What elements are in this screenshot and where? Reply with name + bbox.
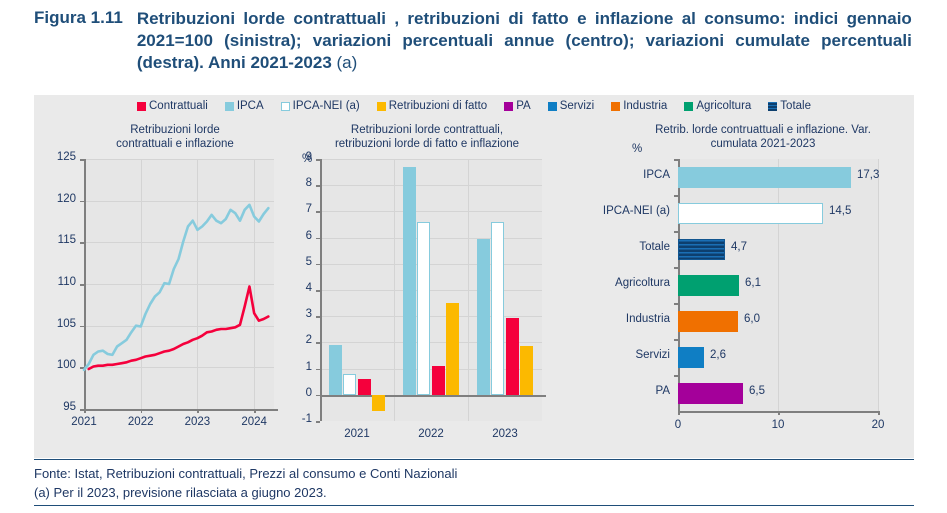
chart-right-title-line2: cumulata 2021-2023 xyxy=(612,137,914,151)
gridline-h xyxy=(320,290,542,291)
bar-2021-retribuzioni-di-fatto xyxy=(372,395,385,411)
legend-label: Contrattuali xyxy=(149,100,208,112)
gridline-v xyxy=(878,159,879,411)
bar-2022-ipca-nei-a- xyxy=(417,222,430,395)
figure-title-note: (a) xyxy=(337,53,358,72)
chart-right-unit: % xyxy=(632,143,642,155)
y-tick xyxy=(316,185,320,187)
gridline-v xyxy=(778,159,779,411)
bar-2021-ipca-nei-a- xyxy=(343,374,356,395)
y-tick-label: -1 xyxy=(280,413,312,425)
figure-label: Figura 1.11 xyxy=(34,8,137,28)
footer-note: (a) Per il 2023, previsione rilasciata a… xyxy=(34,484,457,503)
legend-label: IPCA xyxy=(237,100,264,112)
x-tick xyxy=(678,411,680,415)
gridline-h xyxy=(320,185,542,186)
legend-swatch-icon xyxy=(684,102,693,111)
y-tick-label: 4 xyxy=(280,282,312,294)
bar-2021-ipca xyxy=(329,345,342,395)
chart-panel: ContrattualiIPCAIPCA-NEI (a)Retribuzioni… xyxy=(34,95,914,458)
y-tick-label: 6 xyxy=(280,230,312,242)
divider-top xyxy=(34,459,914,460)
hbar-value-label: 6,5 xyxy=(749,385,765,397)
hbar-agricoltura xyxy=(678,275,739,296)
x-tick-label: 20 xyxy=(856,419,900,431)
figure-page: Figura 1.11 Retribuzioni lorde contrattu… xyxy=(0,0,947,513)
legend-item-retribuzioni-di-fatto: Retribuzioni di fatto xyxy=(377,100,487,112)
y-tick xyxy=(316,316,320,318)
legend-swatch-icon xyxy=(548,102,557,111)
line-series-ipca xyxy=(84,205,268,370)
legend-item-servizi: Servizi xyxy=(548,100,595,112)
y-tick xyxy=(316,421,320,423)
gridline-h xyxy=(320,264,542,265)
figure-footer: Fonte: Istat, Retribuzioni contrattuali,… xyxy=(34,465,457,503)
y-tick xyxy=(316,159,320,161)
gridline-h xyxy=(320,211,542,212)
gridline-h xyxy=(320,159,542,160)
y-tick xyxy=(316,290,320,292)
y-tick xyxy=(674,159,678,161)
hbar-value-label: 2,6 xyxy=(710,349,726,361)
chart-right-title-line1: Retrib. lorde contruattuali e inflazione… xyxy=(612,123,914,137)
legend-swatch-icon xyxy=(377,102,386,111)
legend-swatch-icon xyxy=(137,102,146,111)
y-tick xyxy=(674,339,678,341)
gridline-v xyxy=(394,159,395,421)
hbar-value-label: 6,0 xyxy=(744,313,760,325)
x-tick xyxy=(878,411,880,415)
chart-center-title: Retribuzioni lorde contrattuali, retribu… xyxy=(284,123,570,152)
legend-label: Retribuzioni di fatto xyxy=(389,100,487,112)
hbar-pa xyxy=(678,383,743,404)
y-tick-label: 3 xyxy=(280,308,312,320)
y-tick xyxy=(674,303,678,305)
legend-swatch-icon xyxy=(504,102,513,111)
legend-item-ipca-nei-a: IPCA-NEI (a) xyxy=(281,100,360,112)
legend-item-agricoltura: Agricoltura xyxy=(684,100,751,112)
y-tick-label: 5 xyxy=(280,256,312,268)
legend-swatch-icon xyxy=(281,102,290,111)
legend-item-contrattuali: Contrattuali xyxy=(137,100,208,112)
legend-label: Totale xyxy=(780,100,811,112)
y-tick-label: 7 xyxy=(280,203,312,215)
chart-center-title-line2: retribuzioni lorde di fatto e inflazione xyxy=(284,137,570,151)
x-tick-label: 2021 xyxy=(327,428,387,440)
x-tick-label: 2022 xyxy=(401,428,461,440)
figure-title-row: Figura 1.11 Retribuzioni lorde contrattu… xyxy=(34,8,934,73)
legend-item-ipca: IPCA xyxy=(225,100,264,112)
gridline-v xyxy=(468,159,469,421)
chart-right-hbar: Retrib. lorde contruattuali e inflazione… xyxy=(590,121,914,451)
hbar-value-label: 14,5 xyxy=(829,205,851,217)
hbar-industria xyxy=(678,311,738,332)
chart-right-title: Retrib. lorde contruattuali e inflazione… xyxy=(612,123,914,152)
hbar-category-label: IPCA-NEI (a) xyxy=(590,205,670,217)
y-tick xyxy=(316,211,320,213)
y-tick xyxy=(674,195,678,197)
hbar-servizi xyxy=(678,347,704,368)
page-title: Retribuzioni lorde contrattuali , retrib… xyxy=(137,8,912,73)
legend-swatch-icon xyxy=(611,102,620,111)
legend-label: Servizi xyxy=(560,100,595,112)
footer-source: Fonte: Istat, Retribuzioni contrattuali,… xyxy=(34,465,457,484)
legend-item-industria: Industria xyxy=(611,100,667,112)
y-tick xyxy=(316,264,320,266)
legend-label: Industria xyxy=(623,100,667,112)
chart-legend: ContrattualiIPCAIPCA-NEI (a)Retribuzioni… xyxy=(34,95,914,117)
y-tick xyxy=(674,267,678,269)
bar-2021-contrattuali xyxy=(358,379,371,395)
hbar-value-label: 17,3 xyxy=(857,169,879,181)
y-tick xyxy=(316,342,320,344)
hbar-value-label: 4,7 xyxy=(731,241,747,253)
zero-axis-line xyxy=(320,395,546,398)
legend-label: Agricoltura xyxy=(696,100,751,112)
hbar-category-label: PA xyxy=(590,385,670,397)
y-tick xyxy=(316,369,320,371)
bar-2022-retribuzioni-di-fatto xyxy=(446,303,459,395)
legend-swatch-icon xyxy=(225,102,234,111)
y-tick-label: 2 xyxy=(280,334,312,346)
chart-center-title-line1: Retribuzioni lorde contrattuali, xyxy=(284,123,570,137)
y-tick-label: 8 xyxy=(280,177,312,189)
hbar-ipca xyxy=(678,167,851,188)
y-tick-label: 1 xyxy=(280,361,312,373)
hbar-category-label: IPCA xyxy=(590,169,670,181)
bar-2023-contrattuali xyxy=(506,318,519,395)
hbar-value-label: 6,1 xyxy=(745,277,761,289)
hbar-category-label: Totale xyxy=(590,241,670,253)
chart-center-bar: Retribuzioni lorde contrattuali, retribu… xyxy=(270,121,570,451)
y-tick xyxy=(674,231,678,233)
y-tick xyxy=(316,238,320,240)
legend-label: PA xyxy=(516,100,531,112)
hbar-ipca-nei-a- xyxy=(678,203,823,224)
y-axis-line xyxy=(320,159,322,421)
hbar-totale xyxy=(678,239,725,260)
x-tick xyxy=(778,411,780,415)
legend-label: IPCA-NEI (a) xyxy=(293,100,360,112)
hbar-category-label: Industria xyxy=(590,313,670,325)
gridline-h xyxy=(320,238,542,239)
bar-2022-contrattuali xyxy=(432,366,445,395)
bar-2023-ipca-nei-a- xyxy=(491,222,504,395)
bar-2023-retribuzioni-di-fatto xyxy=(520,346,533,394)
bar-2022-ipca xyxy=(403,167,416,395)
hbar-category-label: Servizi xyxy=(590,349,670,361)
legend-swatch-icon xyxy=(768,102,777,111)
y-tick-label: 0 xyxy=(280,387,312,399)
x-tick-label: 0 xyxy=(656,419,700,431)
legend-item-pa: PA xyxy=(504,100,531,112)
line-series-contrattuali xyxy=(89,287,269,370)
y-tick-label: 9 xyxy=(280,151,312,163)
x-tick-label: 2023 xyxy=(475,428,535,440)
legend-item-totale: Totale xyxy=(768,100,811,112)
divider-bottom xyxy=(34,505,914,506)
x-tick-label: 10 xyxy=(756,419,800,431)
bar-2023-ipca xyxy=(477,239,490,395)
hbar-category-label: Agricoltura xyxy=(590,277,670,289)
figure-title-text: Retribuzioni lorde contrattuali , retrib… xyxy=(137,9,912,72)
y-tick xyxy=(674,375,678,377)
